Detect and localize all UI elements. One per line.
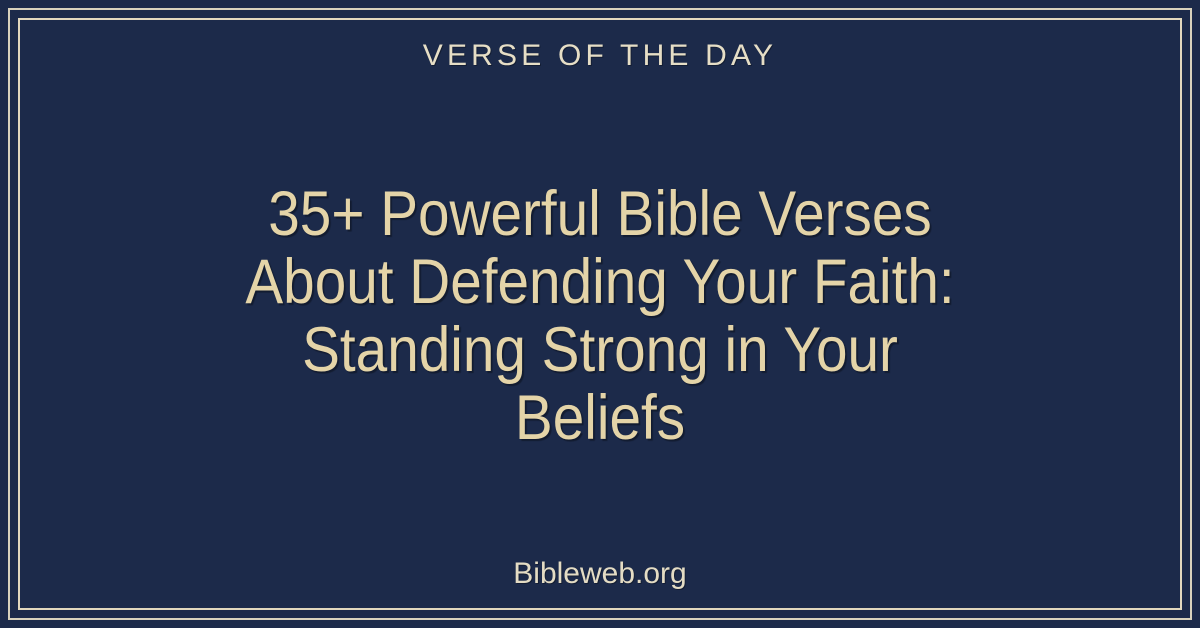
- page-title: 35+ Powerful Bible Verses About Defendin…: [85, 180, 1115, 452]
- title-line-1: 35+ Powerful Bible Verses: [85, 180, 1115, 248]
- card-content: VERSE OF THE DAY 35+ Powerful Bible Vers…: [28, 28, 1172, 600]
- title-line-2: About Defending Your Faith:: [85, 248, 1115, 316]
- title-line-3: Standing Strong in Your: [85, 316, 1115, 384]
- title-line-4: Beliefs: [85, 384, 1115, 452]
- title-block: 35+ Powerful Bible Verses About Defendin…: [28, 75, 1172, 556]
- eyebrow-label: VERSE OF THE DAY: [423, 37, 778, 75]
- site-attribution: Bibleweb.org: [513, 556, 686, 592]
- verse-of-the-day-card: VERSE OF THE DAY 35+ Powerful Bible Vers…: [0, 0, 1200, 628]
